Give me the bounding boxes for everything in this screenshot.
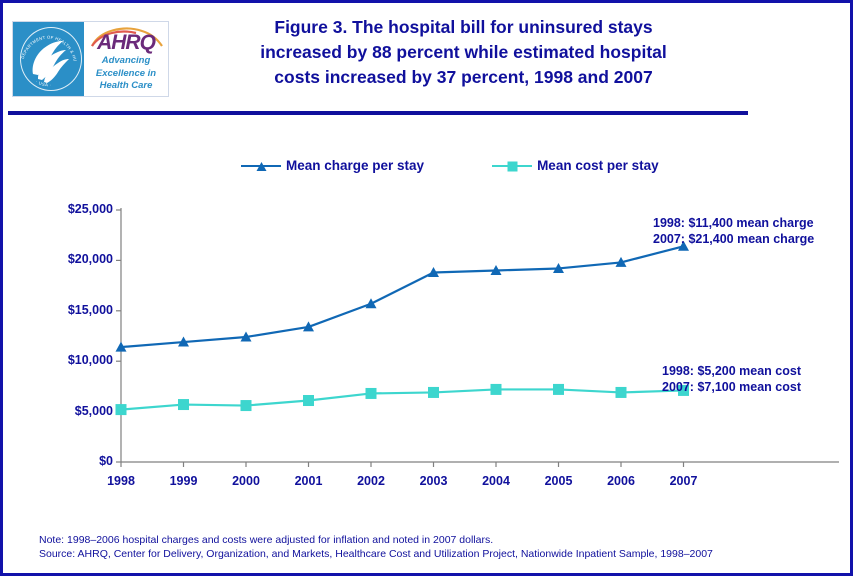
data-point-marker <box>366 388 377 399</box>
x-tick-label: 1999 <box>154 474 214 488</box>
y-tick-label: $5,000 <box>51 404 113 418</box>
x-tick-label: 2002 <box>341 474 401 488</box>
footnote-note: Note: 1998–2006 hospital charges and cos… <box>39 533 713 547</box>
x-tick-label: 2003 <box>404 474 464 488</box>
y-tick-label: $20,000 <box>51 252 113 266</box>
data-point-marker <box>241 400 252 411</box>
y-tick-label: $25,000 <box>51 202 113 216</box>
data-point-marker <box>616 387 627 398</box>
x-tick-label: 2006 <box>591 474 651 488</box>
figure-footnotes: Note: 1998–2006 hospital charges and cos… <box>39 533 713 561</box>
x-tick-label: 2005 <box>529 474 589 488</box>
footnote-source: Source: AHRQ, Center for Delivery, Organ… <box>39 547 713 561</box>
x-tick-label: 1998 <box>91 474 151 488</box>
data-point-marker <box>116 404 127 415</box>
data-point-marker <box>553 384 564 395</box>
chart-plot-area: $0$5,000$10,000$15,000$20,000$25,000 199… <box>3 3 850 573</box>
x-tick-label: 2001 <box>279 474 339 488</box>
x-tick-label: 2004 <box>466 474 526 488</box>
data-point-marker <box>491 384 502 395</box>
data-point-marker <box>178 399 189 410</box>
x-tick-label: 2000 <box>216 474 276 488</box>
x-tick-label: 2007 <box>654 474 714 488</box>
annotation-cost-line-2: 2007: $7,100 mean cost <box>662 379 801 395</box>
data-point-marker <box>366 298 377 308</box>
y-tick-label: $10,000 <box>51 353 113 367</box>
data-point-marker <box>428 387 439 398</box>
annotation-cost: 1998: $5,200 mean cost 2007: $7,100 mean… <box>662 363 801 395</box>
annotation-charge-line-2: 2007: $21,400 mean charge <box>653 231 814 247</box>
y-tick-label: $15,000 <box>51 303 113 317</box>
y-tick-label: $0 <box>51 454 113 468</box>
figure-container: DEPARTMENT OF HEALTH & HUMAN SERVICES · … <box>0 0 853 576</box>
annotation-cost-line-1: 1998: $5,200 mean cost <box>662 363 801 379</box>
data-point-marker <box>303 395 314 406</box>
annotation-charge-line-1: 1998: $11,400 mean charge <box>653 215 814 231</box>
annotation-charge: 1998: $11,400 mean charge 2007: $21,400 … <box>653 215 814 247</box>
